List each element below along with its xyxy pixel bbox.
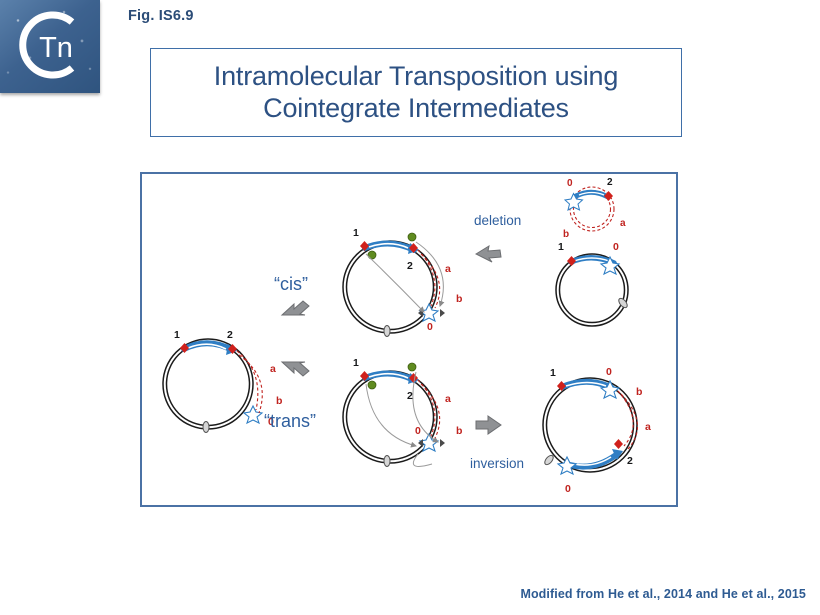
excised-arc-b: b [563,229,569,240]
excised-marker-2: 2 [607,177,613,188]
inversion-product-circle: 1 0 0 2 a b [543,366,651,495]
cis-target-0: 0 [427,321,433,333]
substrate-arc-a: a [270,363,276,375]
deletion-outcome-label: deletion [474,213,521,262]
trans-marker-1: 1 [353,357,359,369]
ctn-logo-mark: Tn [0,0,100,93]
cis-arc-a: a [445,263,451,275]
excised-marker-0: 0 [567,178,573,189]
inversion-marker-1: 1 [550,367,556,379]
deletion-label: deletion [474,213,521,228]
cis-cointegrate-circle: 1 2 a b 0 [343,227,462,337]
cis-pathway-label: “cis” [274,274,309,315]
title-box: Intramolecular Transposition using Coint… [150,48,682,137]
page-title: Intramolecular Transposition using Coint… [151,61,681,124]
trans-arc-a: a [445,393,451,405]
logo-letters: Tn [39,32,73,64]
inversion-label: inversion [470,456,524,471]
substrate-arc-b: b [276,395,282,407]
cis-arc-b: b [456,293,462,305]
inversion-marker-0-bottom: 0 [565,483,571,495]
cis-marker-1: 1 [353,227,359,239]
trans-cointegrate-circle: 1 2 a b 0 [343,357,462,467]
ctn-logo: Tn [0,0,100,93]
deletion-marker-1: 1 [558,241,564,253]
trans-marker-2: 2 [407,390,413,402]
inversion-arc-b: b [636,386,642,398]
transposition-diagram: 1 2 a b 0 “cis” “trans” 1 2 [140,172,678,507]
figure-number: Fig. IS6.9 [128,8,194,24]
trans-arc-b: b [456,425,462,437]
deletion-product-circle: 1 0 [556,241,629,326]
trans-label: “trans” [264,411,316,431]
excised-circle: 0 2 a b [563,177,626,240]
inversion-outcome-label: inversion [470,416,524,471]
cis-label: “cis” [274,274,308,294]
substrate-marker-2: 2 [227,329,233,341]
inversion-arc-a: a [645,421,651,433]
deletion-marker-0: 0 [613,241,619,253]
trans-target-0: 0 [415,425,421,437]
excised-arc-a: a [620,218,626,229]
inversion-marker-0-top: 0 [606,366,612,378]
source-credit: Modified from He et al., 2014 and He et … [520,587,806,601]
substrate-marker-1: 1 [174,329,180,341]
cis-marker-2: 2 [407,260,413,272]
inversion-marker-2: 2 [627,455,633,467]
